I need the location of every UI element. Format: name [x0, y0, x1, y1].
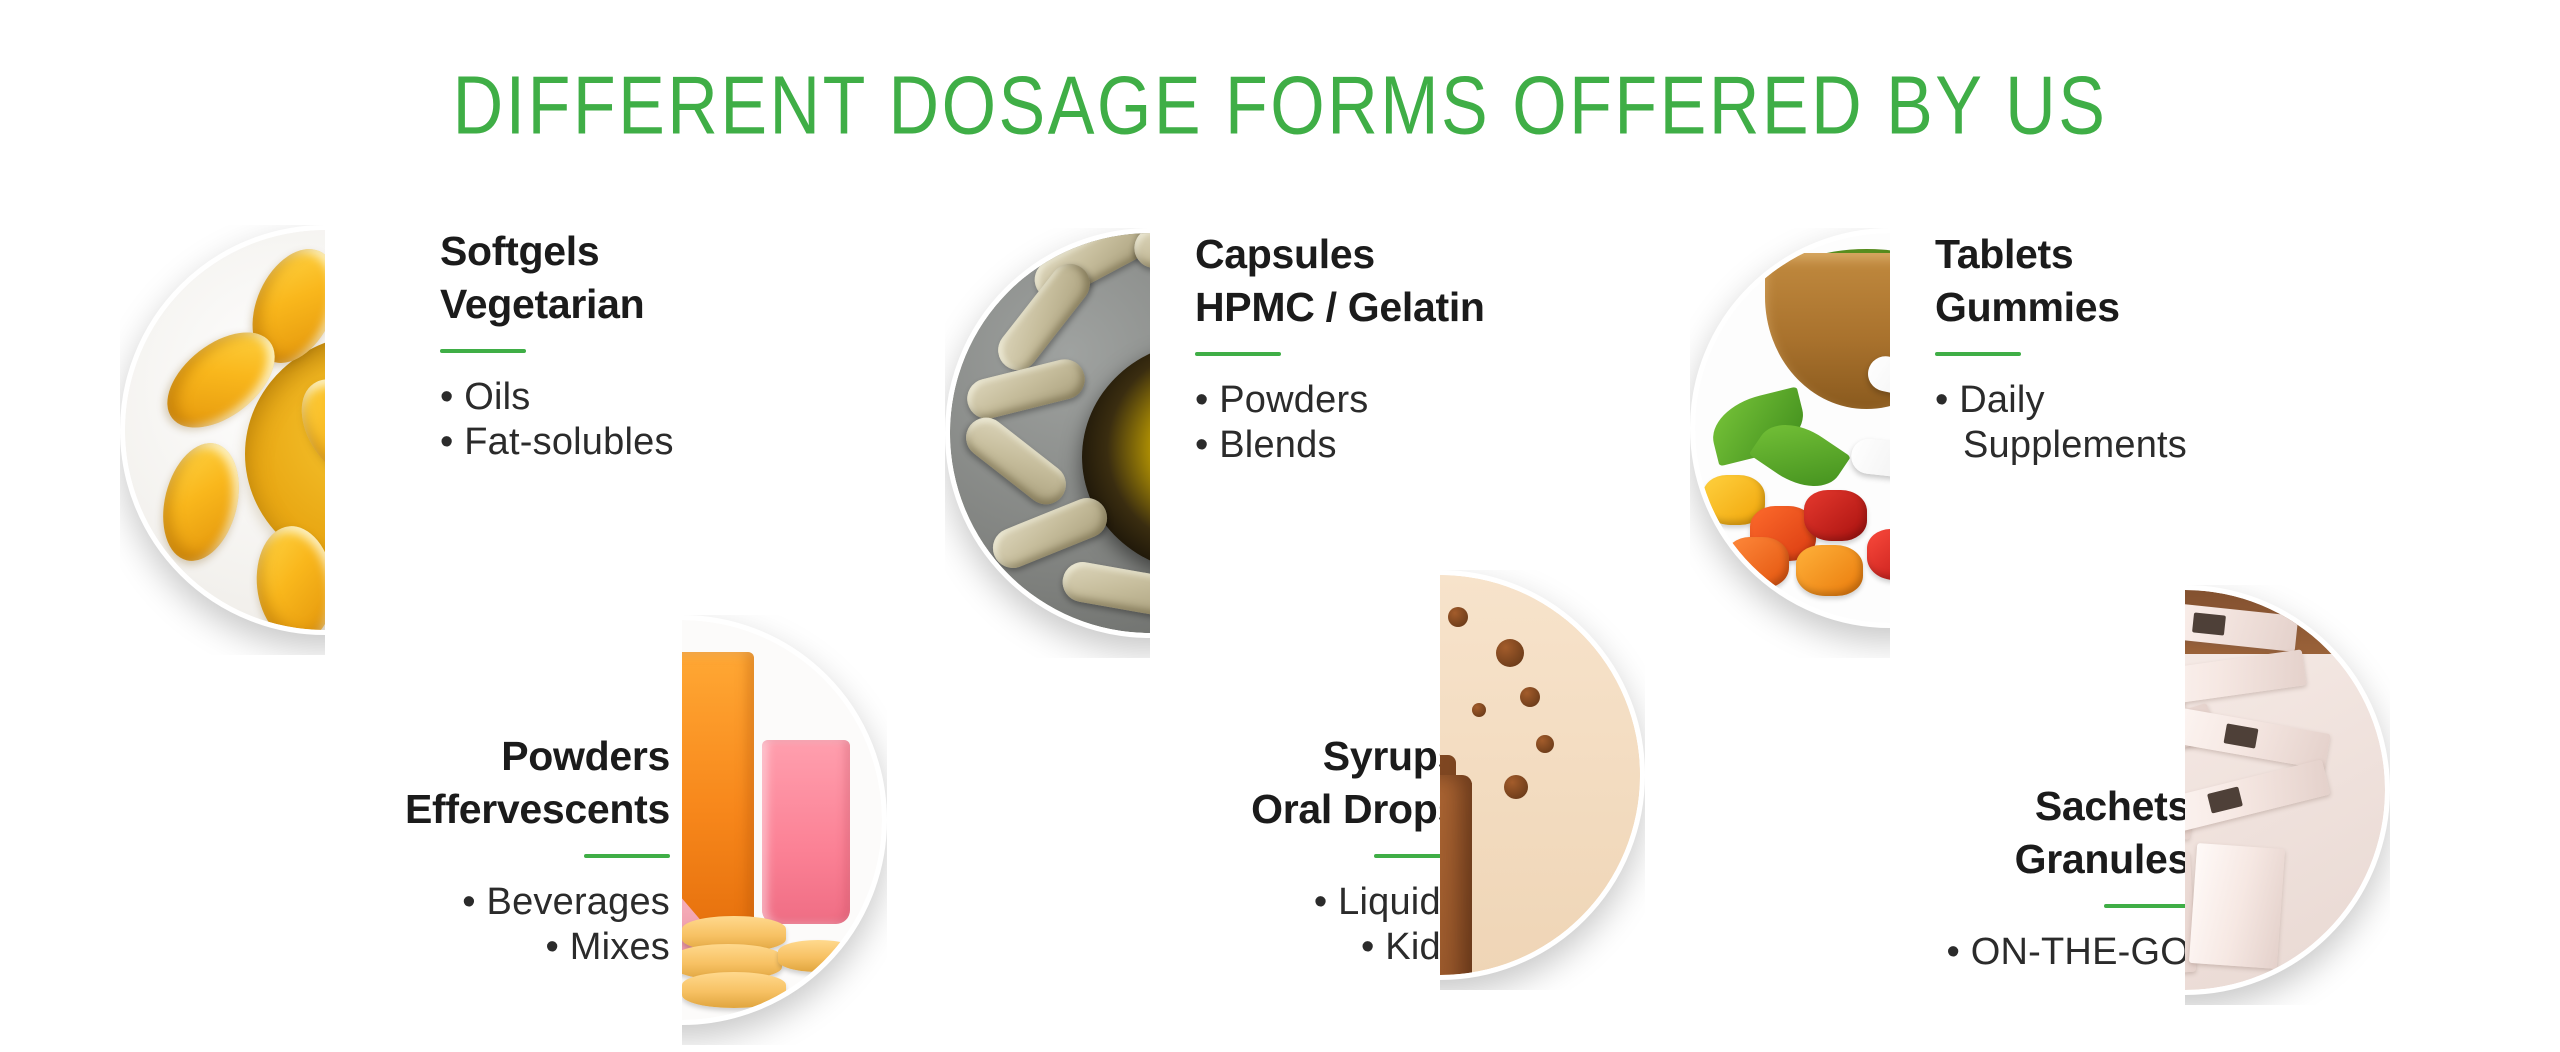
card-softgels: Softgels Vegetarian • Oils • Fat-soluble…: [120, 225, 900, 655]
softgels-divider: [440, 349, 526, 353]
tablets-heading-line-1: Tablets: [1935, 228, 2435, 281]
capsules-bullet-2: • Blends: [1195, 423, 1665, 468]
syrups-text: Syrups Oral Drops • Liquids • Kids: [1120, 730, 1460, 970]
page-title: DIFFERENT DOSAGE FORMS OFFERED BY US: [0, 58, 2560, 152]
capsules-bullets: • Powders • Blends: [1195, 378, 1665, 468]
softgels-bullet-1: • Oils: [440, 375, 900, 420]
tablets-heading-line-2: Gummies: [1935, 281, 2435, 334]
tablets-image: [1690, 228, 1890, 658]
capsules-divider: [1195, 352, 1281, 356]
powders-heading-line-1: Powders: [330, 730, 670, 783]
capsules-image: [945, 228, 1150, 658]
powders-bullets: • Beverages • Mixes: [330, 880, 670, 970]
softgels-heading-line-1: Softgels: [440, 225, 900, 278]
syrups-bullet-2: • Kids: [1120, 925, 1460, 970]
powders-photo: [682, 620, 882, 1020]
tablets-text: Tablets Gummies • Daily Supplements: [1935, 228, 2435, 468]
infographic-page: DIFFERENT DOSAGE FORMS OFFERED BY US: [0, 0, 2560, 1052]
powders-text: Powders Effervescents • Beverages • Mixe…: [330, 730, 670, 970]
softgels-bullets: • Oils • Fat-solubles: [440, 375, 900, 465]
softgels-image: [120, 225, 325, 655]
softgels-bullet-2: • Fat-solubles: [440, 420, 900, 465]
capsules-text: Capsules HPMC / Gelatin • Powders • Blen…: [1195, 228, 1665, 468]
powders-heading-line-2: Effervescents: [330, 783, 670, 836]
capsules-heading-line-2: HPMC / Gelatin: [1195, 281, 1665, 334]
sachets-bullet-1: • ON-THE-GO: [1840, 930, 2190, 975]
syrups-heading-line-2: Oral Drops: [1120, 783, 1460, 836]
capsules-photo: [950, 233, 1150, 633]
softgels-heading-line-2: Vegetarian: [440, 278, 900, 331]
sachets-bullets: • ON-THE-GO: [1840, 930, 2190, 975]
powders-divider: [584, 854, 670, 858]
tablets-bullet-1-cont: Supplements: [1935, 423, 2435, 468]
syrups-bullet-1: • Liquids: [1120, 880, 1460, 925]
sachets-heading-line-1: Sachets: [1840, 780, 2190, 833]
syrups-photo: [1440, 575, 1640, 975]
card-powders: Powders Effervescents • Beverages • Mixe…: [330, 730, 890, 1052]
card-sachets: Sachets Granules • ON-THE-GO: [1840, 780, 2460, 1052]
tablets-divider: [1935, 352, 2021, 356]
tablets-bullet-1: • Daily: [1935, 378, 2435, 423]
syrups-image: [1440, 570, 1645, 990]
tablets-photo: [1695, 233, 1890, 623]
capsules-bullet-1: • Powders: [1195, 378, 1665, 423]
sachets-heading-line-2: Granules: [1840, 833, 2190, 886]
sachets-photo: [2185, 590, 2385, 990]
syrups-heading-line-1: Syrups: [1120, 730, 1460, 783]
sachets-image: [2185, 585, 2390, 1005]
capsules-heading-line-1: Capsules: [1195, 228, 1665, 281]
softgels-photo: [125, 230, 325, 630]
powders-image: [682, 615, 887, 1045]
powders-bullet-1: • Beverages: [330, 880, 670, 925]
tablets-bullets: • Daily Supplements: [1935, 378, 2435, 468]
softgels-text: Softgels Vegetarian • Oils • Fat-soluble…: [440, 225, 900, 465]
sachets-divider: [2104, 904, 2190, 908]
powders-bullet-2: • Mixes: [330, 925, 670, 970]
sachets-text: Sachets Granules • ON-THE-GO: [1840, 780, 2190, 975]
card-syrups: Syrups Oral Drops • Liquids • Kids: [1120, 730, 1680, 1052]
syrups-bullets: • Liquids • Kids: [1120, 880, 1460, 970]
